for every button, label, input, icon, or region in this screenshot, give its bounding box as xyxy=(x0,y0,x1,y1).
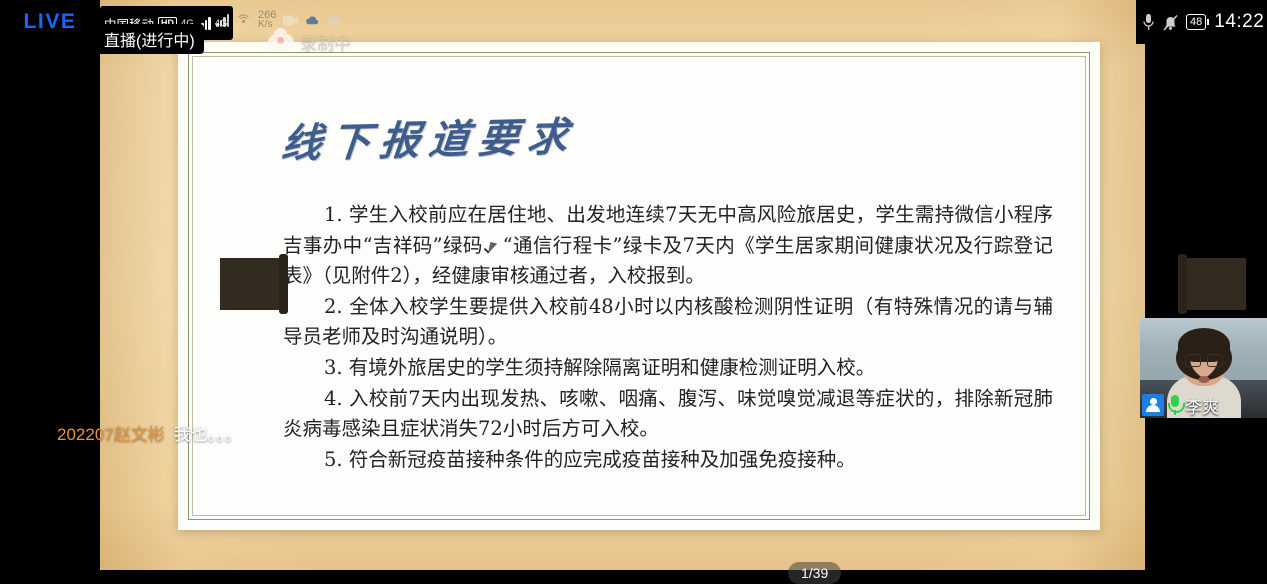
paragraph-5: 5. 符合新冠疫苗接种条件的应完成疫苗接种及加强免疫接种。 xyxy=(283,445,1053,476)
participant-name: 李爽 xyxy=(1185,393,1219,418)
video-person-glasses xyxy=(1185,354,1223,365)
bell-muted-icon xyxy=(1163,14,1178,31)
page-indicator: 1/39 xyxy=(788,562,841,584)
paragraph-1: 1. 学生入校前应在居住地、出发地连续7天无中高风险旅居史，学生需持微信小程序吉… xyxy=(283,200,1053,292)
chat-sender: 202207赵文彬 xyxy=(57,420,165,445)
battery-indicator: 48 xyxy=(1186,14,1206,30)
page-title: 线下报道要求 xyxy=(279,93,1057,170)
live-stream-stage: 线下报道要求 1. 学生入校前应在居住地、出发地连续7天无中高风险旅居史，学生需… xyxy=(0,0,1267,570)
video-person-mouth xyxy=(1198,376,1209,383)
video-tile-footer: 李爽 xyxy=(1140,392,1267,418)
document-page: 线下报道要求 1. 学生入校前应在居住地、出发地连续7天无中高风险旅居史，学生需… xyxy=(178,42,1100,530)
document-content: 线下报道要求 1. 学生入校前应在居住地、出发地连续7天无中高风险旅居史，学生需… xyxy=(283,102,1053,475)
clock: 14:22 xyxy=(1214,11,1264,33)
paragraph-4: 4. 入校前7天内出现发热、咳嗽、咽痛、腹泻、味觉嗅觉减退等症状的，排除新冠肺炎… xyxy=(283,384,1053,445)
paragraph-3: 3. 有境外旅居史的学生须持解除隔离证明和健康检测证明入校。 xyxy=(283,353,1053,384)
slide-surface[interactable]: 线下报道要求 1. 学生入校前应在居住地、出发地连续7天无中高风险旅居史，学生需… xyxy=(100,0,1145,570)
system-status-right: 48 14:22 xyxy=(1136,0,1267,44)
participant-video-tile[interactable]: 李爽 xyxy=(1140,318,1267,418)
curtain-tieback-right xyxy=(1178,258,1246,310)
microphone-on-icon[interactable] xyxy=(1168,395,1181,415)
curtain-tieback-left xyxy=(220,258,288,310)
chat-text: 我也。。。 xyxy=(174,420,242,445)
person-icon xyxy=(1142,394,1164,416)
live-badge: LIVE xyxy=(0,0,100,44)
paragraph-2: 2. 全体入校学生要提供入校前48小时以内核酸检测阴性证明（有特殊情况的请与辅导… xyxy=(283,292,1053,353)
chat-message: 202207赵文彬 我也。。。 xyxy=(57,420,242,445)
document-body: 1. 学生入校前应在居住地、出发地连续7天无中高风险旅居史，学生需持微信小程序吉… xyxy=(283,200,1053,475)
